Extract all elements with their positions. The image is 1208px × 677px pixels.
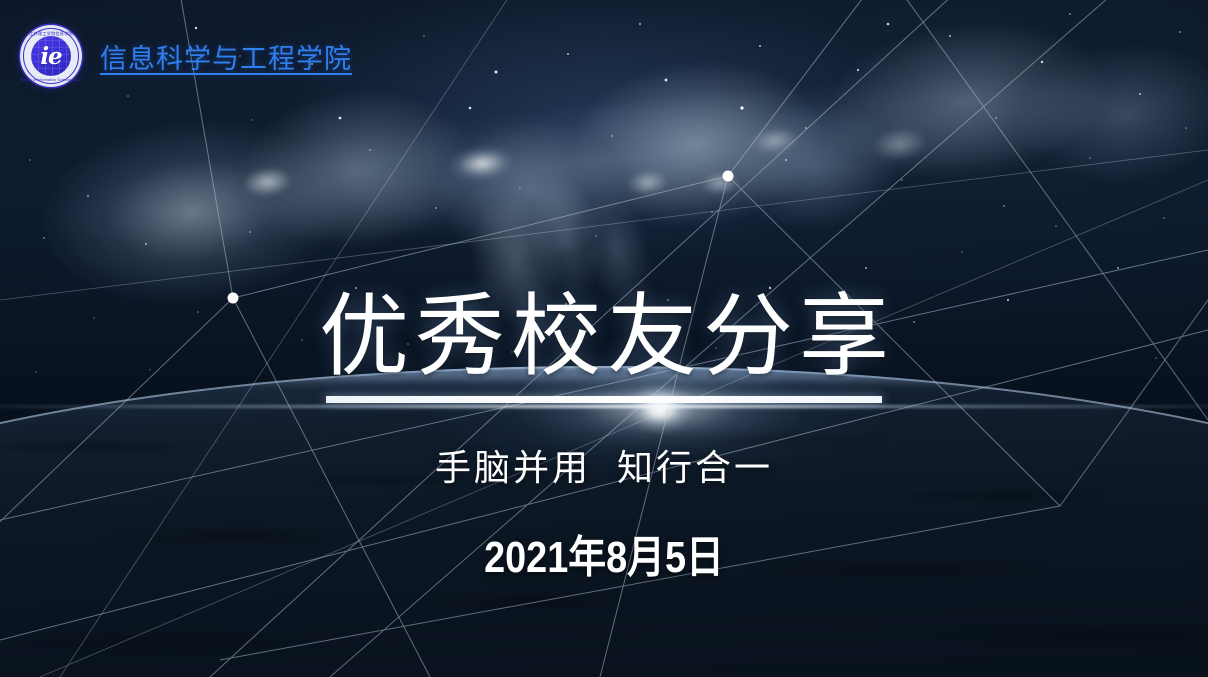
logo-inner-disc: ie bbox=[31, 36, 71, 76]
title-underline-rule bbox=[326, 396, 882, 403]
subtitle-motto: 手脑并用知行合一 bbox=[0, 439, 1208, 491]
subtitle-left: 手脑并用 bbox=[435, 447, 591, 488]
title-block: 优秀校友分享 手脑并用知行合一 2021年8月5日 bbox=[0, 292, 1208, 585]
logo-monogram: ie bbox=[40, 45, 61, 68]
main-title: 优秀校友分享 bbox=[0, 292, 1208, 382]
slide-header: 江苏理工学院信息学院 School of Information Science… bbox=[20, 25, 352, 87]
event-date: 2021年8月5日 bbox=[85, 521, 1124, 585]
logo-ring-bottom-text: School of Information Science and Engine… bbox=[20, 78, 82, 82]
presentation-slide: 江苏理工学院信息学院 School of Information Science… bbox=[0, 0, 1208, 677]
organization-name: 信息科学与工程学院 bbox=[100, 37, 352, 76]
subtitle-right: 知行合一 bbox=[617, 447, 773, 488]
college-logo-icon: 江苏理工学院信息学院 School of Information Science… bbox=[20, 25, 82, 87]
